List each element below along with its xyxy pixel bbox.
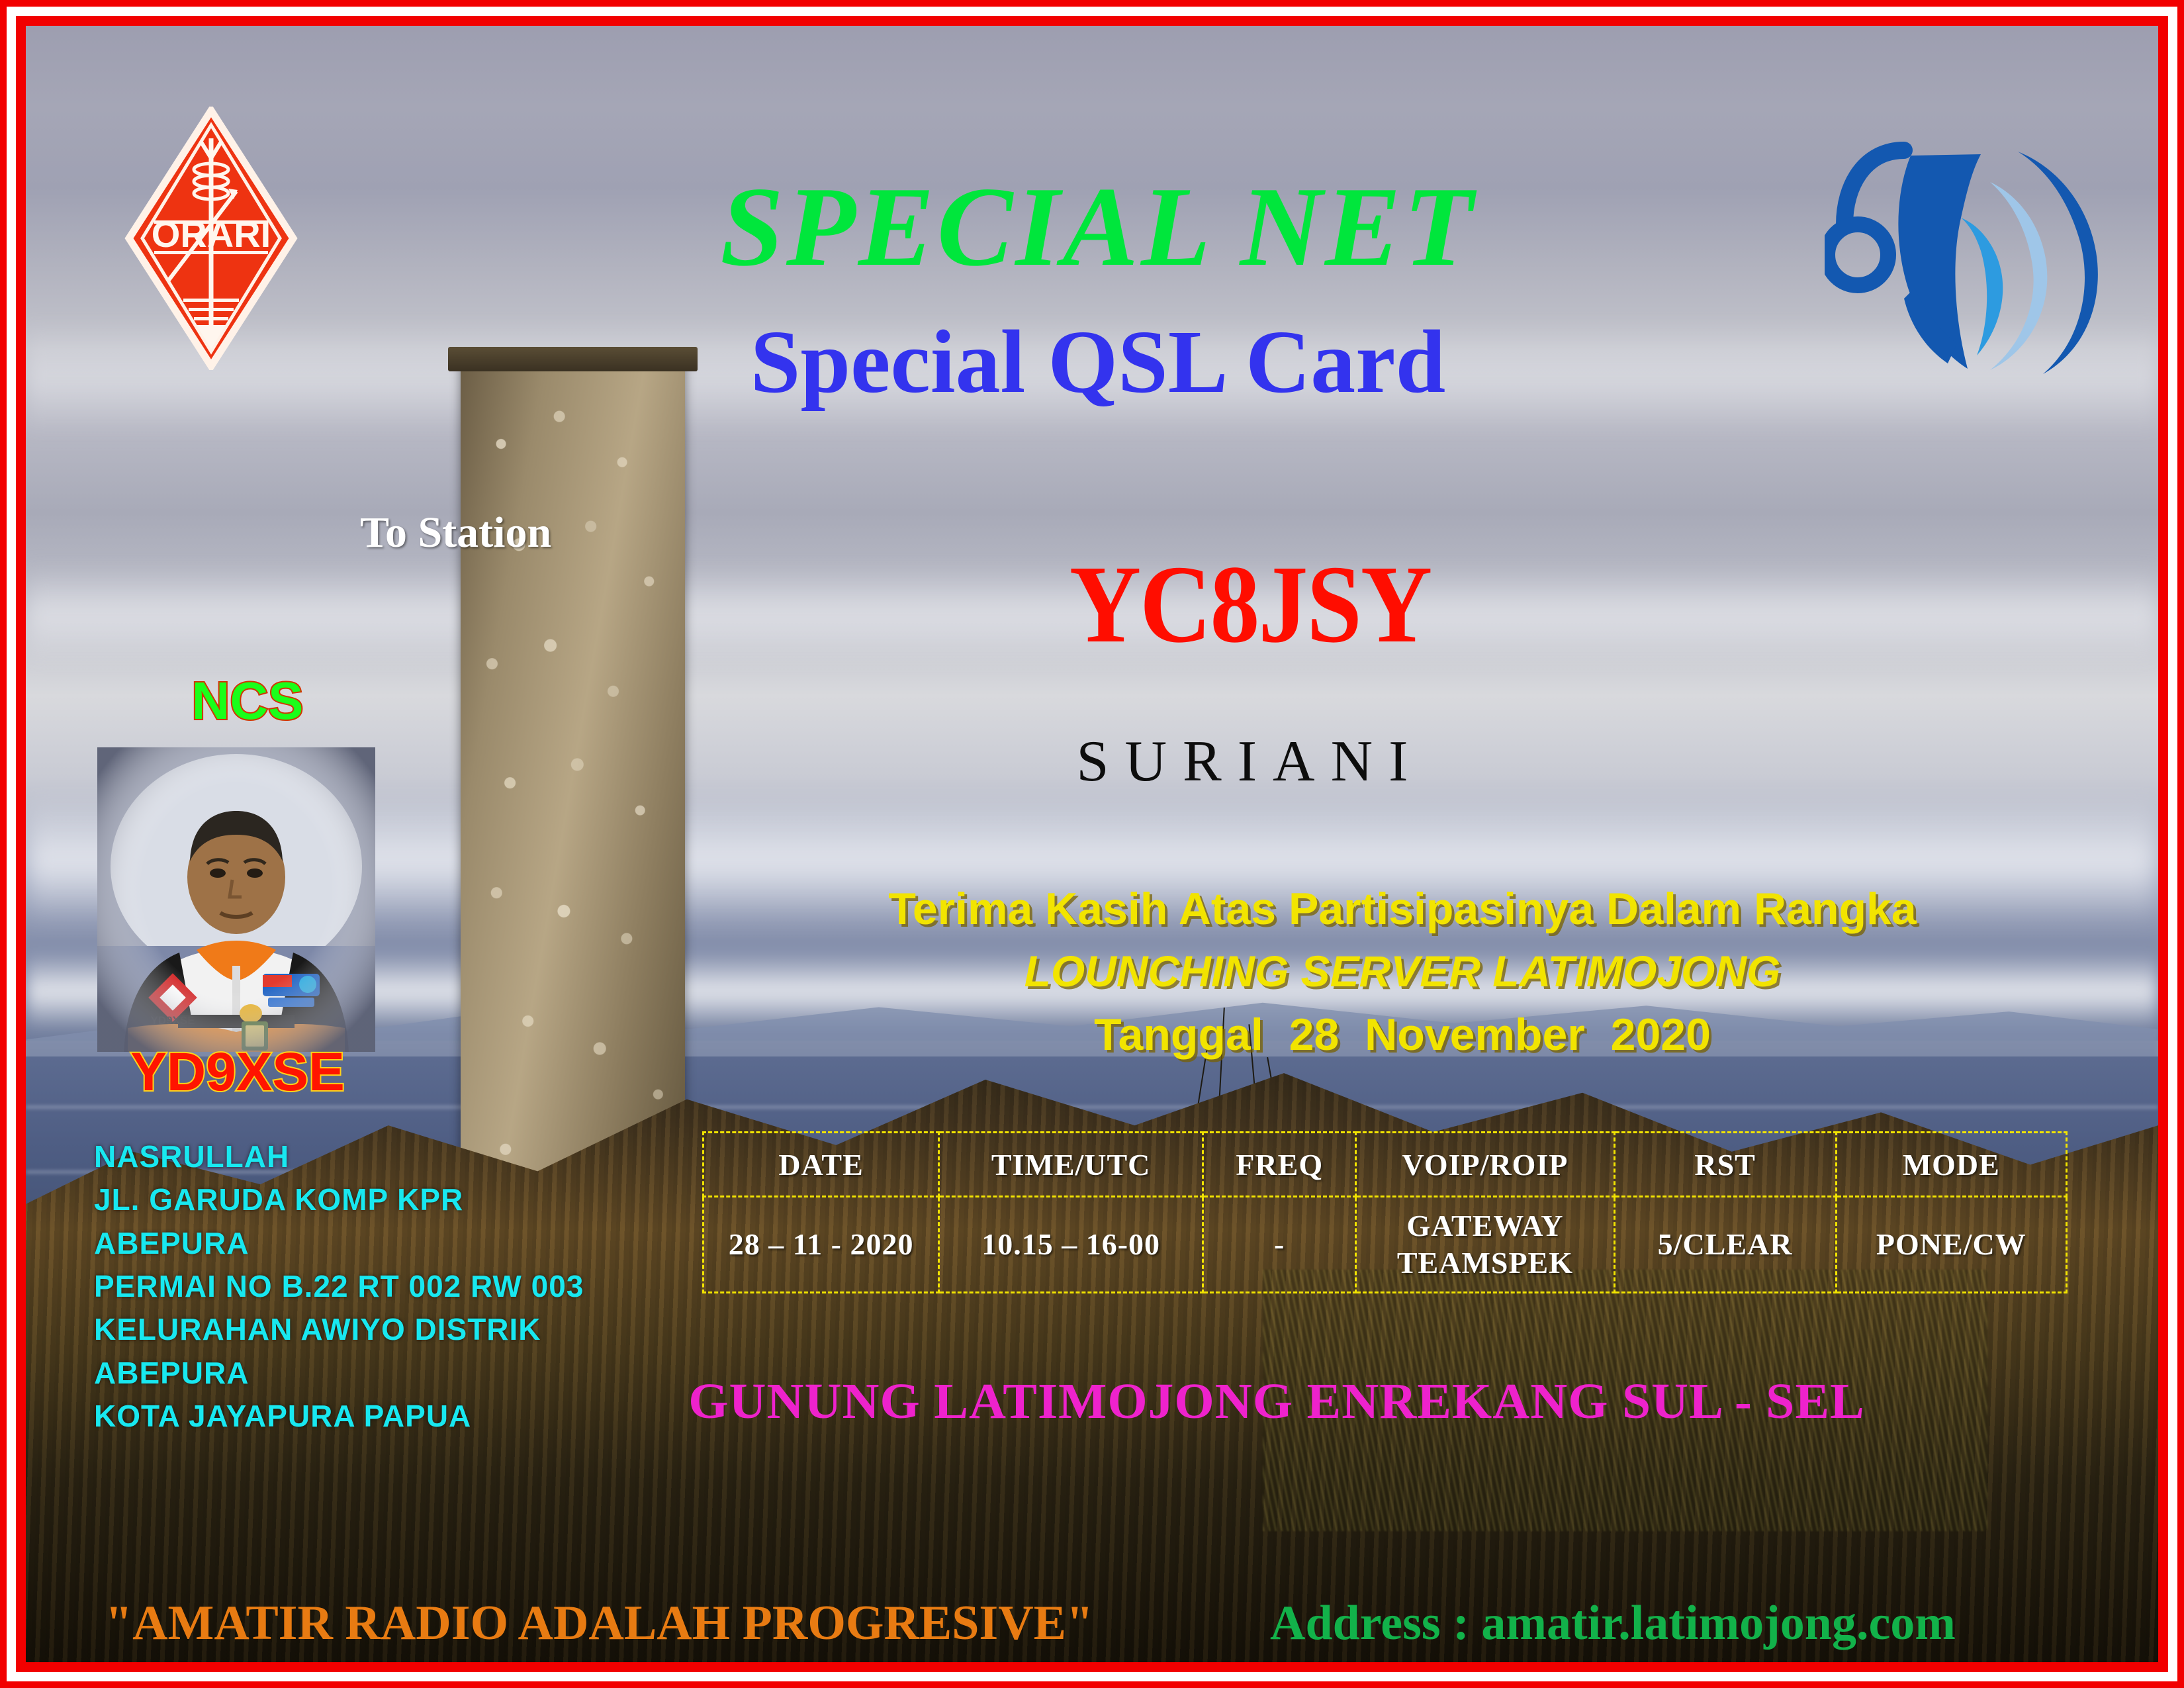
- cell-date: 28 – 11 - 2020: [704, 1197, 939, 1293]
- location-name: GUNUNG LATIMOJONG ENREKANG SUL - SEL: [649, 1376, 1904, 1427]
- address-line: ABEPURA: [94, 1352, 637, 1395]
- event-date: Tanggal 28 November 2020: [754, 1012, 2051, 1057]
- date-year: 2020: [1611, 1009, 1711, 1060]
- ncs-label: NCS: [161, 675, 334, 727]
- page-title-special-net: SPECIAL NET: [449, 170, 1747, 284]
- orari-wordmark: ORARI: [152, 213, 271, 255]
- operator-name: SURIANI: [946, 733, 1555, 791]
- thanks-message: Terima Kasih Atas Partisipasinya Dalam R…: [754, 886, 2051, 931]
- column-header-rst: RST: [1614, 1133, 1836, 1197]
- mailing-address: NASRULLAH JL. GARUDA KOMP KPR ABEPURA PE…: [94, 1135, 637, 1438]
- qsl-card-white-gap: ORARI: [7, 7, 2177, 1681]
- column-header-time-utc: TIME/UTC: [939, 1133, 1203, 1197]
- address-line: KOTA JAYAPURA PAPUA: [94, 1395, 637, 1438]
- operator-portrait: YD9XSE: [97, 747, 375, 1052]
- footer-slogan: "AMATIR RADIO ADALAH PROGRESIVE": [105, 1599, 1093, 1648]
- table-header-row: DATE TIME/UTC FREQ VOIP/ROIP RST MODE: [704, 1133, 2067, 1197]
- station-callsign: YC8JSY: [946, 549, 1555, 660]
- address-line: JL. GARUDA KOMP KPR: [94, 1178, 637, 1221]
- date-label: Tanggal: [1094, 1009, 1263, 1060]
- date-day: 28: [1289, 1009, 1340, 1060]
- cell-freq: -: [1203, 1197, 1356, 1293]
- column-header-date: DATE: [704, 1133, 939, 1197]
- footer-web-address: Address : amatir.latimojong.com: [1270, 1599, 1956, 1648]
- address-line: NASRULLAH: [94, 1135, 637, 1178]
- column-header-voip-roip: VOIP/ROIP: [1356, 1133, 1614, 1197]
- column-header-mode: MODE: [1836, 1133, 2066, 1197]
- table-row: 28 – 11 - 2020 10.15 – 16-00 - GATEWAY T…: [704, 1197, 2067, 1293]
- qso-log-table: DATE TIME/UTC FREQ VOIP/ROIP RST MODE 28…: [702, 1131, 2068, 1293]
- to-station-label: To Station: [360, 508, 551, 558]
- cell-mode: PONE/CW: [1836, 1197, 2066, 1293]
- background-photograph: ORARI: [26, 26, 2158, 1662]
- orari-logo: ORARI: [122, 107, 300, 370]
- page-subtitle-special-qsl-card: Special QSL Card: [449, 317, 1747, 407]
- radio-headset-logo: [1825, 125, 2109, 377]
- cell-voip-roip-line1: GATEWAY: [1357, 1207, 1612, 1244]
- qsl-card-outer-frame: ORARI: [0, 0, 2184, 1688]
- cell-rst: 5/CLEAR: [1614, 1197, 1836, 1293]
- occasion-title: LOUNCHING SERVER LATIMOJONG: [754, 949, 2051, 993]
- address-line: ABEPURA: [94, 1222, 637, 1265]
- overlay-content: ORARI: [26, 26, 2158, 1662]
- qsl-card-inner-frame: ORARI: [16, 16, 2168, 1672]
- date-month: November: [1365, 1009, 1585, 1060]
- address-line: KELURAHAN AWIYO DISTRIK: [94, 1308, 637, 1351]
- cell-voip-roip: GATEWAY TEAMSPEK: [1356, 1197, 1614, 1293]
- column-header-freq: FREQ: [1203, 1133, 1356, 1197]
- address-line: PERMAI NO B.22 RT 002 RW 003: [94, 1265, 637, 1308]
- cell-time-utc: 10.15 – 16-00: [939, 1197, 1203, 1293]
- cell-voip-roip-line2: TEAMSPEK: [1357, 1244, 1612, 1282]
- ncs-callsign: YD9XSE: [99, 1045, 377, 1100]
